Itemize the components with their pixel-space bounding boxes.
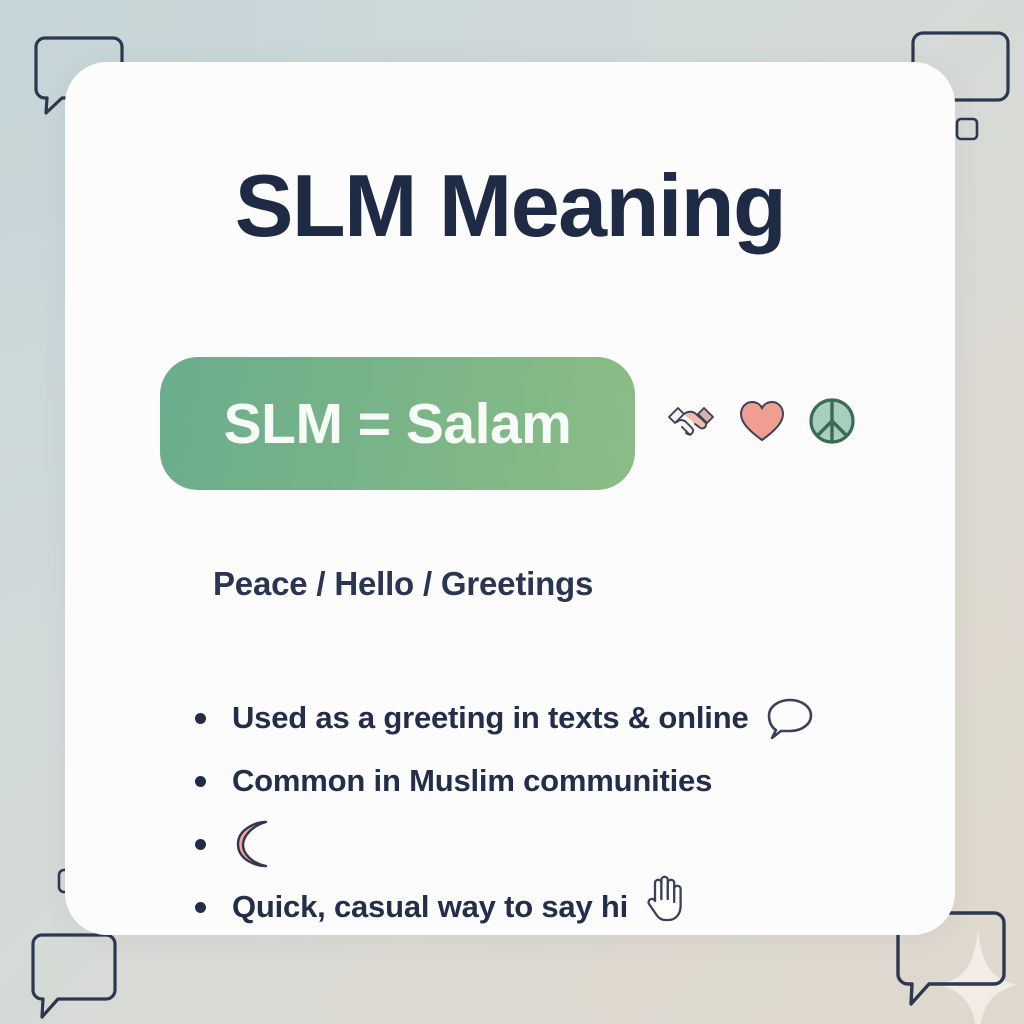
bullet-dot-icon [195,776,206,787]
bullet-dot-icon [195,713,206,724]
bullet-dot-icon [195,839,206,850]
emoji-row [665,395,857,452]
crescent-moon-emoji [232,818,280,870]
peace-symbol-emoji [807,396,857,451]
raised-hand-icon [642,872,688,924]
list-item: Common in Muslim communities [195,750,955,812]
bullet-dot-icon [195,902,206,913]
definition-row: SLM = Salam [160,357,857,490]
poster-canvas: SLM Meaning SLM = Salam [0,0,1024,1024]
decorative-speech-bubble-bottom-left [32,932,118,1024]
list-item: Quick, casual way to say hi [195,876,955,938]
definition-pill-label: SLM = Salam [224,391,572,457]
list-item-label: Used as a greeting in texts & online [232,700,749,736]
definition-pill: SLM = Salam [160,357,635,490]
list-item [195,813,955,875]
decorative-square-top-right [955,117,979,141]
speech-balloon-icon [763,694,817,742]
content-card: SLM Meaning SLM = Salam [65,62,955,935]
list-item-label: Common in Muslim communities [232,763,712,799]
handshake-emoji [665,395,717,452]
subtitle: Peace / Hello / Greetings [213,565,593,603]
decorative-sparkle [938,930,1018,1024]
page-title: SLM Meaning [65,162,955,250]
list-item-label: Quick, casual way to say hi [232,889,628,925]
list-item: Used as a greeting in texts & online [195,687,955,749]
bullet-list: Used as a greeting in texts & online Com… [195,687,955,938]
heart-emoji [737,396,787,451]
